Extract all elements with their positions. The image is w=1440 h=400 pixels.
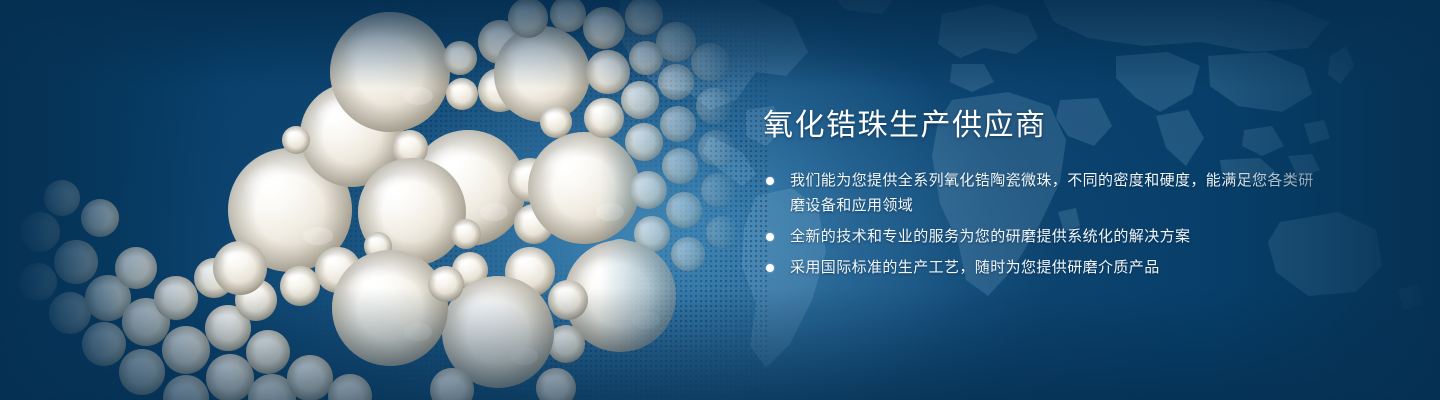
- edge-vignette: [0, 0, 1440, 400]
- hero-banner: 氧化锆珠生产供应商 我们能为您提供全系列氧化锆陶瓷微珠，不同的密度和硬度，能满足…: [0, 0, 1440, 400]
